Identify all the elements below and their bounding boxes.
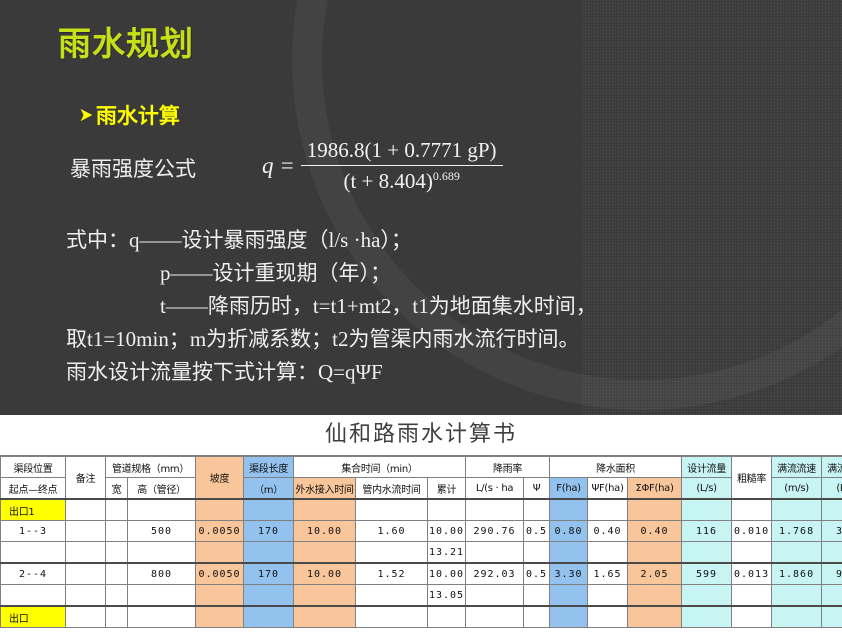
cell-empty [682,499,732,521]
col-header-collection-time: 集合时间（min） [294,457,466,478]
cell-empty [588,542,628,564]
bullet-item-rainwater-calculation: ➤ 雨水计算 [78,100,180,130]
table-row: 1--3 500 0.0050 170 10.00 1.60 10.00 290… [1,521,842,542]
subheader-sum-PhiF: ΣΦF(ha) [628,478,682,500]
cell-roughness: 0.010 [732,521,772,542]
sheet-title: 仙和路雨水计算书 [0,415,842,456]
cell-empty [466,499,524,521]
cell-empty [66,542,106,564]
cell-empty [128,606,196,628]
subheader-in-pipe-flow-time: 管内水流时间 [356,478,428,500]
cell-PsiF: 1.65 [588,563,628,585]
cell-full-flow: 347 [822,521,842,542]
cell-empty [550,606,588,628]
cell-empty [244,606,294,628]
cell-empty [772,606,822,628]
cell-empty [822,585,842,607]
cell-empty [466,585,524,607]
subheader-full-flow-unit: (L/s) [822,478,842,500]
table-section-row: 出口1 [1,499,842,521]
table-row: 2--4 800 0.0050 170 10.00 1.52 10.00 292… [1,563,842,585]
table-row: 13.05 [1,585,842,607]
cell-empty [356,585,428,607]
cell-empty [106,585,128,607]
col-header-catchment-area: 降水面积 [550,457,682,478]
subheader-PsiF: ΨF(ha) [588,478,628,500]
cell-full-velocity: 1.860 [772,563,822,585]
cell-empty [294,542,356,564]
table-header-row-2: 起点—终点 宽 高（管径） （m） 外水接入时间 管内水流时间 累计 L/(s … [1,478,842,500]
cell-empty [356,499,428,521]
col-header-full-velocity: 满流流速 [772,457,822,478]
definition-line-t1: 取t1=10min；m为折减系数；t2为管渠内雨水流行时间。 [66,328,580,352]
cell-empty [732,542,772,564]
cell-empty [244,499,294,521]
subheader-rain-rate-unit: L/(s · ha [466,478,524,500]
storm-intensity-formula: q = 1986.8(1 + 0.7771 gP) (t + 8.404)0.6… [262,138,503,194]
cell-rain-rate: 292.03 [466,563,524,585]
cell-empty [524,542,550,564]
table-row: 13.21 [1,542,842,564]
table-header-row-1: 渠段位置 备注 管道规格（mm） 坡度 渠段长度 集合时间（min） 降雨率 降… [1,457,842,478]
cell-empty [428,606,466,628]
cell-slope: 0.0050 [196,563,244,585]
formula-label: 暴雨强度公式 [70,158,196,182]
cell-height: 500 [128,521,196,542]
spreadsheet-region: 仙和路雨水计算书 渠段位置 备注 管道规格（mm） 坡度 渠段长度 集合时间（m… [0,415,842,635]
cell-empty [196,499,244,521]
cell-empty [196,542,244,564]
design-flow-formula-line: 雨水设计流量按下式计算：Q=qΨF [66,361,383,385]
cell-empty [550,585,588,607]
cell-empty [682,606,732,628]
cell-full-velocity: 1.768 [772,521,822,542]
cell-external-time: 10.00 [294,521,356,542]
cell-width [106,563,128,585]
subheader-external-inflow-time: 外水接入时间 [294,478,356,500]
cell-PsiF: 0.40 [588,521,628,542]
cell-empty [466,606,524,628]
cell-design-flow: 116 [682,521,732,542]
cell-cumulative-total: 13.21 [428,542,466,564]
cell-empty [732,585,772,607]
cell-empty [1,542,66,564]
cell-empty [524,585,550,607]
formula-denominator-wrap: (t + 8.404)0.689 [337,166,465,194]
subheader-full-velocity-unit: (m/s) [772,478,822,500]
definition-line-p: p——设计重现期（年）； [160,262,391,286]
cell-length: 170 [244,563,294,585]
cell-note [66,521,106,542]
cell-position: 2--4 [1,563,66,585]
formula-denominator: (t + 8.404) [343,169,432,193]
col-header-full-flow: 满流流量 [822,457,842,478]
cell-empty [466,542,524,564]
formula-fraction: 1986.8(1 + 0.7771 gP) (t + 8.404)0.689 [301,138,503,194]
col-header-pipe-spec: 管道规格（mm） [106,457,196,478]
cell-empty [196,606,244,628]
cell-empty [628,499,682,521]
formula-numerator: 1986.8(1 + 0.7771 gP) [301,138,503,165]
bullet-item-label: 雨水计算 [96,100,180,130]
cell-empty [106,499,128,521]
cell-empty [356,606,428,628]
cell-sum-PhiF: 0.40 [628,521,682,542]
formula-lhs: q = [262,153,295,179]
cell-empty [66,606,106,628]
cell-rain-rate: 290.76 [466,521,524,542]
cell-empty [128,499,196,521]
cell-pipe-time: 1.60 [356,521,428,542]
subheader-psi: Ψ [524,478,550,500]
col-header-roughness: 粗糙率 [732,457,772,500]
subheader-design-flow-unit: (L/s) [682,478,732,500]
cell-empty [732,606,772,628]
cell-slope: 0.0050 [196,521,244,542]
cell-position: 1--3 [1,521,66,542]
cell-empty [244,585,294,607]
cell-empty [550,542,588,564]
cell-empty [196,585,244,607]
col-header-design-flow: 设计流量 [682,457,732,478]
cell-empty [106,606,128,628]
cell-design-flow: 599 [682,563,732,585]
col-header-note: 备注 [66,457,106,500]
rainwater-calculation-table: 渠段位置 备注 管道规格（mm） 坡度 渠段长度 集合时间（min） 降雨率 降… [0,456,842,628]
cell-empty [1,585,66,607]
cell-height: 800 [128,563,196,585]
cell-psi: 0.5 [524,521,550,542]
cell-empty [66,499,106,521]
cell-empty [524,499,550,521]
definition-line-q: 式中：q——设计暴雨强度（l/s ·ha）； [66,229,412,253]
subheader-length-unit: （m） [244,478,294,500]
cell-empty [128,542,196,564]
cell-F: 3.30 [550,563,588,585]
cell-empty [628,585,682,607]
table-section-row-partial: 出口 [1,606,842,628]
cell-pipe-time: 1.52 [356,563,428,585]
subheader-height-diameter: 高（管径） [128,478,196,500]
cell-empty [588,606,628,628]
cell-empty [822,542,842,564]
cell-sum-PhiF: 2.05 [628,563,682,585]
cell-empty [428,499,466,521]
cell-empty [244,542,294,564]
cell-F: 0.80 [550,521,588,542]
cell-empty [732,499,772,521]
col-header-section-length: 渠段长度 [244,457,294,478]
cell-empty [66,585,106,607]
cell-cumulative: 10.00 [428,521,466,542]
cell-empty [628,606,682,628]
cell-roughness: 0.013 [732,563,772,585]
subheader-cumulative: 累计 [428,478,466,500]
cell-empty [524,606,550,628]
cell-full-flow: 935 [822,563,842,585]
slide-canvas: 雨水规划 ➤ 雨水计算 暴雨强度公式 q = 1986.8(1 + 0.7771… [0,0,842,415]
section-label-outlet-1: 出口1 [1,499,66,521]
cell-empty [106,542,128,564]
cell-empty [822,499,842,521]
cell-empty [628,542,682,564]
cell-empty [294,606,356,628]
cell-width [106,521,128,542]
arrow-bullet-icon: ➤ [79,106,93,125]
cell-empty [294,499,356,521]
section-label-outlet-next: 出口 [1,606,66,628]
subheader-width: 宽 [106,478,128,500]
cell-empty [294,585,356,607]
cell-empty [550,499,588,521]
definition-line-t: t——降雨历时，t=t1+mt2，t1为地面集水时间， [160,295,597,319]
cell-empty [772,499,822,521]
cell-empty [588,499,628,521]
subheader-start-end: 起点—终点 [1,478,66,500]
cell-psi: 0.5 [524,563,550,585]
page-title: 雨水规划 [58,27,194,60]
subheader-F: F(ha) [550,478,588,500]
cell-note [66,563,106,585]
col-header-rain-rate: 降雨率 [466,457,550,478]
cell-empty [772,585,822,607]
cell-cumulative-total: 13.05 [428,585,466,607]
formula-exponent: 0.689 [433,169,460,183]
cell-empty [682,542,732,564]
col-header-position: 渠段位置 [1,457,66,478]
cell-empty [772,542,822,564]
cell-empty [356,542,428,564]
col-header-slope: 坡度 [196,457,244,500]
cell-empty [822,606,842,628]
cell-empty [588,585,628,607]
cell-external-time: 10.00 [294,563,356,585]
cell-cumulative: 10.00 [428,563,466,585]
cell-empty [682,585,732,607]
cell-length: 170 [244,521,294,542]
cell-empty [128,585,196,607]
